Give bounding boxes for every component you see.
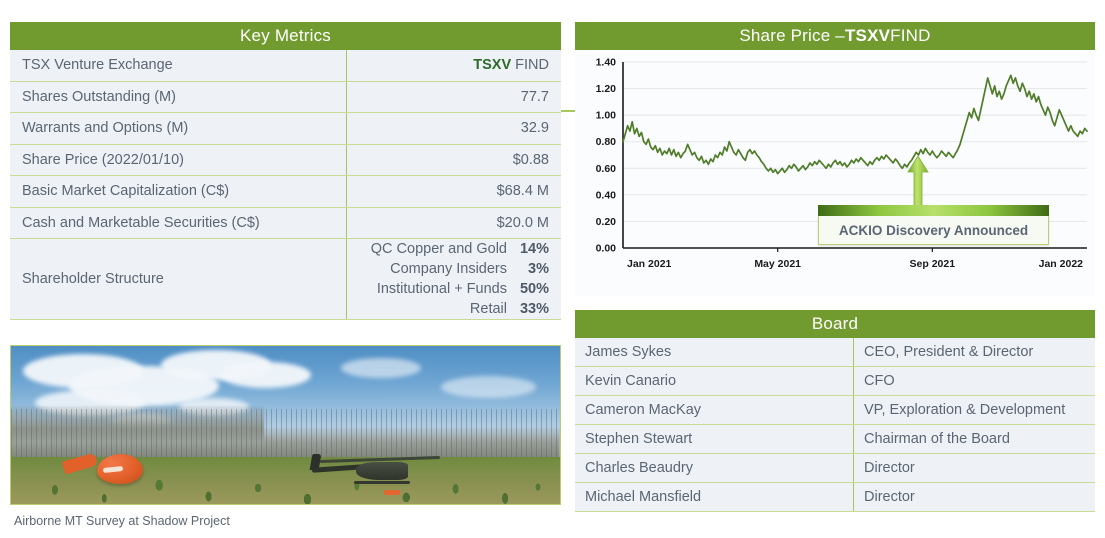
- board-member-name: Charles Beaudry: [575, 454, 854, 483]
- photo-block: Airborne MT Survey at Shadow Project: [10, 345, 561, 528]
- board-member-role: Director: [854, 454, 1096, 483]
- holder-name: Company Insiders: [390, 260, 507, 278]
- metric-label: Share Price (2022/01/10): [10, 144, 347, 176]
- table-row: TSX Venture Exchange TSXV FIND: [10, 50, 561, 81]
- table-row: James SykesCEO, President & Director: [575, 338, 1095, 367]
- board-header: Board: [575, 310, 1095, 338]
- board-member-name: Cameron MacKay: [575, 396, 854, 425]
- board-table: James SykesCEO, President & DirectorKevi…: [575, 338, 1095, 512]
- share-price-header: Share Price – TSXV FIND: [575, 22, 1095, 50]
- holder-pct: 33%: [515, 300, 549, 318]
- table-row: Cash and Marketable Securities (C$) $20.…: [10, 207, 561, 239]
- tsxv-ticker-prefix: TSXV: [473, 57, 511, 73]
- x-tick-label: Jan 2022: [1039, 258, 1084, 270]
- metric-value: TSXV FIND: [347, 50, 562, 81]
- share-price-header-symbol: FIND: [890, 26, 930, 46]
- list-item: Company Insiders 3%: [390, 260, 549, 278]
- key-metrics-table: TSX Venture Exchange TSXV FIND Shares Ou…: [10, 50, 561, 320]
- chart-svg: 0.000.200.400.600.801.001.201.40 Jan 202…: [575, 50, 1095, 296]
- table-row: Share Price (2022/01/10) $0.88: [10, 144, 561, 176]
- list-item: Retail 33%: [470, 300, 549, 318]
- key-metrics-panel: Key Metrics TSX Venture Exchange TSXV FI…: [10, 22, 561, 320]
- metric-label: TSX Venture Exchange: [10, 50, 347, 81]
- holder-pct: 50%: [515, 280, 549, 298]
- annotation-arrow-icon: [907, 156, 929, 212]
- helicopter-body: [356, 462, 408, 480]
- metric-value: 32.9: [347, 113, 562, 145]
- chart-y-axis-labels: 0.000.200.400.600.801.001.201.40: [596, 57, 617, 255]
- shareholder-list: QC Copper and Gold 14% Company Insiders …: [359, 240, 549, 319]
- metric-value: $0.88: [347, 144, 562, 176]
- y-tick-label: 0.60: [596, 163, 617, 175]
- share-price-chart: 0.000.200.400.600.801.001.201.40 Jan 202…: [575, 50, 1095, 296]
- board-member-role: Director: [854, 483, 1096, 512]
- table-row: Shares Outstanding (M) 77.7: [10, 81, 561, 113]
- y-tick-label: 0.00: [596, 243, 617, 255]
- board-member-role: VP, Exploration & Development: [854, 396, 1096, 425]
- photo-caption: Airborne MT Survey at Shadow Project: [10, 514, 561, 528]
- y-tick-label: 1.20: [596, 83, 617, 95]
- holder-name: Institutional + Funds: [377, 280, 507, 298]
- metric-value: $20.0 M: [347, 207, 562, 239]
- holder-name: QC Copper and Gold: [371, 240, 507, 258]
- board-member-role: Chairman of the Board: [854, 425, 1096, 454]
- table-row: Cameron MacKayVP, Exploration & Developm…: [575, 396, 1095, 425]
- board-member-name: Stephen Stewart: [575, 425, 854, 454]
- metric-label: Basic Market Capitalization (C$): [10, 176, 347, 208]
- y-tick-label: 0.80: [596, 136, 617, 148]
- callout-accent-bar: [818, 205, 1049, 216]
- chart-x-axis-labels: Jan 2021May 2021Sep 2021Jan 2022: [627, 258, 1083, 270]
- board-panel: Board James SykesCEO, President & Direct…: [575, 310, 1095, 512]
- metric-label: Warrants and Options (M): [10, 113, 347, 145]
- x-tick-label: Jan 2021: [627, 258, 672, 270]
- holder-name: Retail: [470, 300, 507, 318]
- metric-value: 77.7: [347, 81, 562, 113]
- list-item: QC Copper and Gold 14%: [371, 240, 549, 258]
- board-member-role: CFO: [854, 367, 1096, 396]
- list-item: Institutional + Funds 50%: [377, 280, 549, 298]
- share-price-header-text: Share Price –: [739, 26, 845, 46]
- table-row: Basic Market Capitalization (C$) $68.4 M: [10, 176, 561, 208]
- holder-pct: 14%: [515, 240, 549, 258]
- table-row: Warrants and Options (M) 32.9: [10, 113, 561, 145]
- y-tick-label: 1.00: [596, 110, 617, 122]
- holder-pct: 3%: [515, 260, 549, 278]
- y-tick-label: 0.20: [596, 216, 617, 228]
- metric-label: Shares Outstanding (M): [10, 81, 347, 113]
- board-member-name: Kevin Canario: [575, 367, 854, 396]
- metric-value: $68.4 M: [347, 176, 562, 208]
- board-member-name: Michael Mansfield: [575, 483, 854, 512]
- key-metrics-header: Key Metrics: [10, 22, 561, 50]
- cloud-shape: [341, 358, 421, 378]
- table-row: Michael MansfieldDirector: [575, 483, 1095, 512]
- share-price-panel: Share Price – TSXV FIND 0.000.200.400.60…: [575, 22, 1095, 296]
- share-price-header-ticker: TSXV: [845, 26, 890, 46]
- board-member-name: James Sykes: [575, 338, 854, 367]
- shareholder-structure-label: Shareholder Structure: [10, 239, 347, 320]
- cloud-shape: [441, 376, 536, 398]
- tsxv-ticker-symbol: FIND: [511, 57, 549, 73]
- table-row: Stephen StewartChairman of the Board: [575, 425, 1095, 454]
- slide: Key Metrics TSX Venture Exchange TSXV FI…: [0, 0, 1105, 538]
- helicopter-skid: [354, 481, 410, 484]
- metric-label: Cash and Marketable Securities (C$): [10, 207, 347, 239]
- chart-annotation-callout: ACKIO Discovery Announced: [818, 205, 1049, 245]
- x-tick-label: May 2021: [754, 258, 801, 270]
- ground-marker: [384, 490, 400, 495]
- board-member-role: CEO, President & Director: [854, 338, 1096, 367]
- cloud-shape: [221, 362, 311, 388]
- shareholder-structure-values: QC Copper and Gold 14% Company Insiders …: [347, 239, 562, 320]
- x-tick-label: Sep 2021: [910, 258, 956, 270]
- shareholder-structure-row: Shareholder Structure QC Copper and Gold…: [10, 239, 561, 320]
- table-row: Charles BeaudryDirector: [575, 454, 1095, 483]
- table-row: Kevin CanarioCFO: [575, 367, 1095, 396]
- field-photo: [10, 345, 561, 505]
- price-line: [623, 75, 1087, 173]
- callout-text: ACKIO Discovery Announced: [818, 216, 1049, 245]
- y-tick-label: 1.40: [596, 57, 617, 69]
- y-tick-label: 0.40: [596, 189, 617, 201]
